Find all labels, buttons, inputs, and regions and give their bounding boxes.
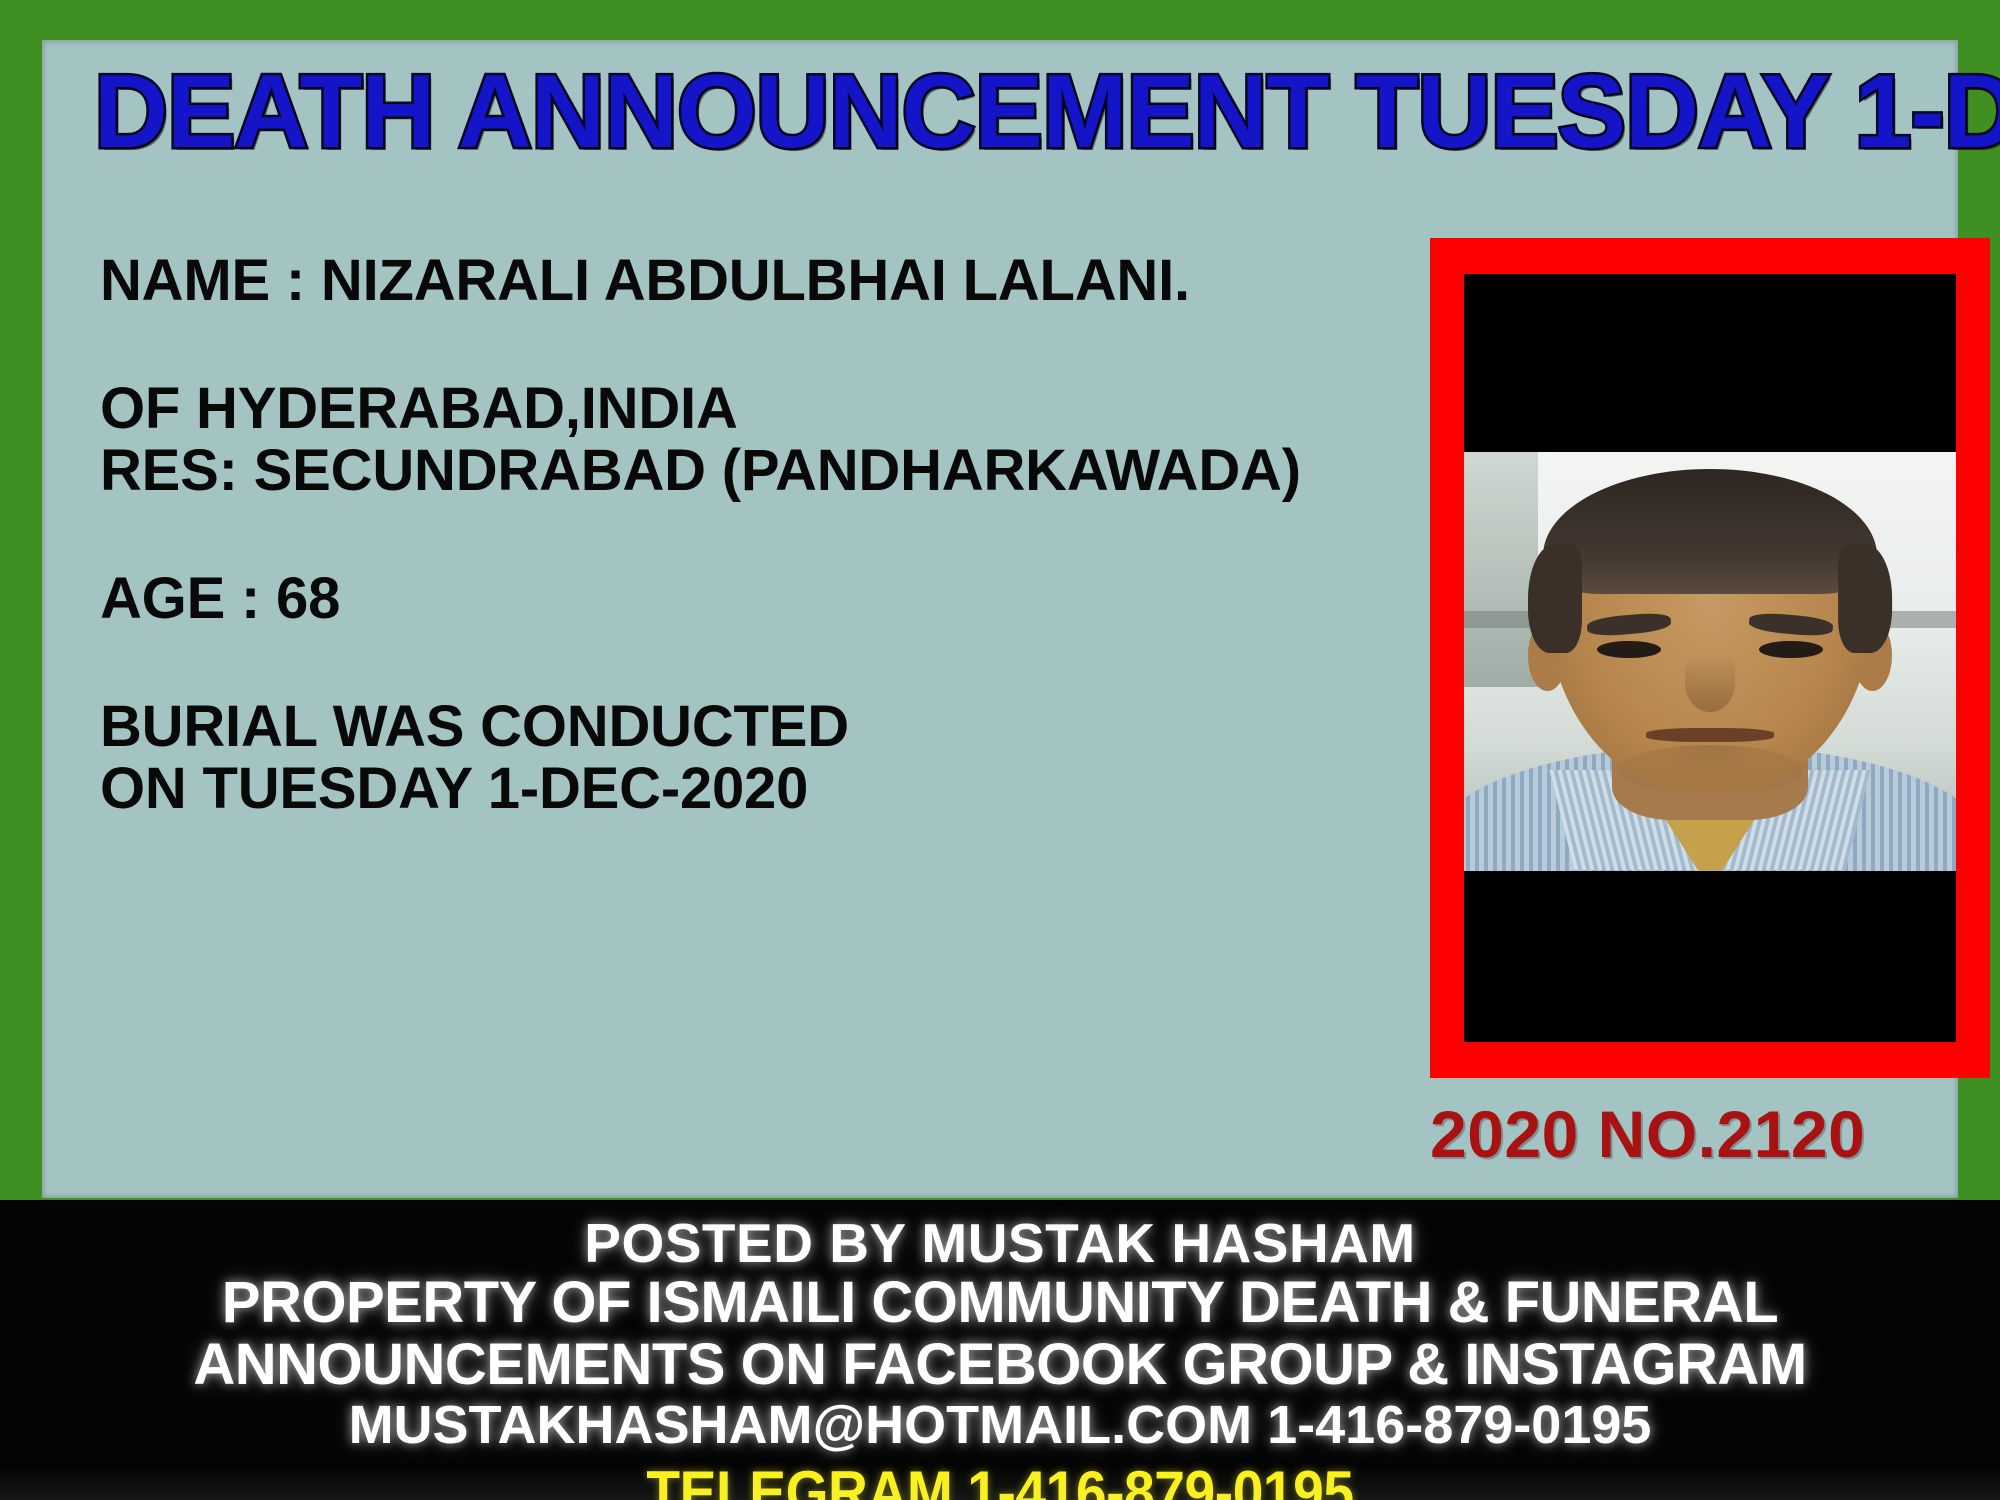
portrait-photo-frame	[1430, 238, 1990, 1078]
detail-burial-line-2: ON TUESDAY 1-DEC-2020	[100, 758, 1380, 820]
detail-burial-line-1: BURIAL WAS CONDUCTED	[100, 696, 1380, 758]
photo-hair-side-right	[1838, 544, 1892, 653]
detail-spacer	[100, 630, 1380, 696]
footer-property-line: PROPERTY OF ISMAILI COMMUNITY DEATH & FU…	[0, 1272, 2000, 1334]
photo-mouth	[1646, 728, 1774, 741]
page-title: DEATH ANNOUNCEMENT TUESDAY 1-DEC-2020	[94, 56, 1906, 168]
photo-background-panel	[1464, 452, 1538, 686]
record-number: 2020 NO.2120	[1430, 1096, 1990, 1172]
footer-banner: POSTED BY MUSTAK HASHAM PROPERTY OF ISMA…	[0, 1200, 2000, 1500]
announcement-card: DEATH ANNOUNCEMENT TUESDAY 1-DEC-2020 NA…	[42, 40, 1958, 1198]
footer-telegram-line: TELEGRAM 1-416-879-0195	[80, 1460, 1920, 1500]
detail-residence: RES: SECUNDRABAD (PANDHARKAWADA)	[100, 440, 1380, 502]
photo-nose	[1685, 653, 1734, 712]
death-announcement-poster: DEATH ANNOUNCEMENT TUESDAY 1-DEC-2020 NA…	[0, 0, 2000, 1500]
photo-eye-left	[1597, 641, 1661, 659]
detail-name: NAME : NIZARALI ABDULBHAI LALANI.	[100, 250, 1380, 312]
detail-age: AGE : 68	[100, 568, 1380, 630]
photo-hair-side-left	[1528, 544, 1582, 653]
detail-spacer	[100, 312, 1380, 378]
footer-posted-by: POSTED BY MUSTAK HASHAM	[0, 1214, 2000, 1272]
footer-contact-line: MUSTAKHASHAM@HOTMAIL.COM 1-416-879-0195	[0, 1396, 2000, 1454]
deceased-details-block: NAME : NIZARALI ABDULBHAI LALANI. OF HYD…	[100, 250, 1380, 820]
photo-eye-right	[1759, 641, 1823, 659]
portrait-photo-letterbox	[1464, 274, 1956, 1042]
detail-spacer	[100, 502, 1380, 568]
detail-origin: OF HYDERABAD,INDIA	[100, 378, 1380, 440]
portrait-photo-image	[1464, 452, 1956, 871]
footer-announcements-line: ANNOUNCEMENTS ON FACEBOOK GROUP & INSTAG…	[0, 1334, 2000, 1396]
